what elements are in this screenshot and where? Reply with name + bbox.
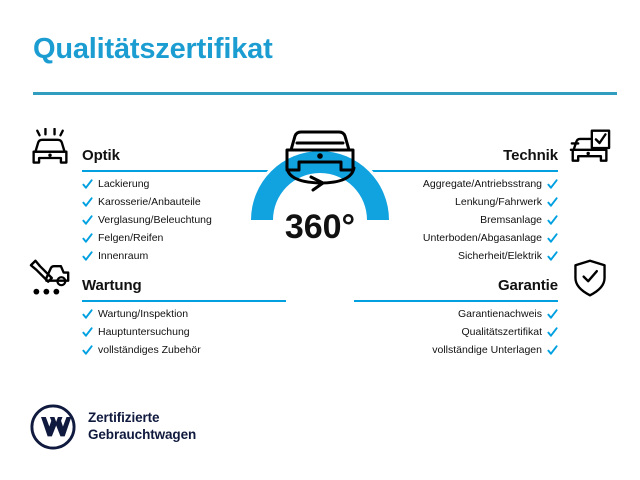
check-icon bbox=[82, 309, 93, 320]
list-item: vollständige Unterlagen bbox=[354, 345, 616, 356]
list-item-label: Qualitätszertifikat bbox=[461, 327, 542, 338]
list-item-label: vollständige Unterlagen bbox=[432, 345, 542, 356]
check-icon bbox=[547, 327, 558, 338]
list-item: vollständiges Zubehör bbox=[24, 345, 286, 356]
list-item-label: vollständiges Zubehör bbox=[98, 345, 201, 356]
check-icon bbox=[82, 327, 93, 338]
vw-certified-logo: Zertifizierte Gebrauchtwagen bbox=[30, 404, 196, 450]
vw-logo-line2: Gebrauchtwagen bbox=[88, 427, 196, 444]
vw-logo-line1: Zertifizierte bbox=[88, 410, 196, 427]
vw-logo-text: Zertifizierte Gebrauchtwagen bbox=[88, 410, 196, 444]
list-item: Garantienachweis bbox=[354, 309, 616, 320]
check-icon bbox=[82, 345, 93, 356]
check-icon bbox=[547, 197, 558, 208]
list-item-label: Lackierung bbox=[98, 179, 149, 190]
check-icon bbox=[547, 345, 558, 356]
list-item: Wartung/Inspektion bbox=[24, 309, 286, 320]
section-optik-title: Optik bbox=[82, 147, 120, 164]
list-item-label: Unterboden/Abgasanlage bbox=[423, 233, 542, 244]
list-item-label: Wartung/Inspektion bbox=[98, 309, 188, 320]
check-icon bbox=[547, 215, 558, 226]
wartung-check-list: Wartung/Inspektion Hauptuntersuchung vol… bbox=[24, 302, 286, 356]
list-item-label: Verglasung/Beleuchtung bbox=[98, 215, 212, 226]
vw-logo-icon bbox=[30, 404, 76, 450]
garantie-check-list: Garantienachweis Qualitätszertifikat vol… bbox=[354, 302, 616, 356]
list-item: Qualitätszertifikat bbox=[354, 327, 616, 338]
list-item-label: Bremsanlage bbox=[480, 215, 542, 226]
list-item-label: Garantienachweis bbox=[458, 309, 542, 320]
list-item-label: Felgen/Reifen bbox=[98, 233, 163, 244]
check-icon bbox=[82, 179, 93, 190]
section-wartung-title: Wartung bbox=[82, 277, 142, 294]
check-icon bbox=[547, 309, 558, 320]
list-item-label: Hauptuntersuchung bbox=[98, 327, 190, 338]
section-garantie-title: Garantie bbox=[498, 277, 558, 294]
list-item-label: Aggregate/Antriebsstrang bbox=[423, 179, 542, 190]
list-item-label: Karosserie/Anbauteile bbox=[98, 197, 201, 208]
certificate-page: Qualitätszertifikat bbox=[0, 0, 640, 480]
check-icon bbox=[547, 179, 558, 190]
title-divider bbox=[33, 92, 617, 95]
section-technik-title: Technik bbox=[503, 147, 558, 164]
page-title: Qualitätszertifikat bbox=[33, 33, 273, 66]
check-icon bbox=[82, 197, 93, 208]
check-icon bbox=[82, 215, 93, 226]
badge-360-gebrauchtwagen-check: Gebrauchtwagen-Check 360° bbox=[225, 112, 415, 307]
check-icon bbox=[82, 233, 93, 244]
shield-check-icon bbox=[568, 258, 612, 298]
list-item: Hauptuntersuchung bbox=[24, 327, 286, 338]
car-checkbox-icon bbox=[568, 128, 612, 168]
svg-text:360°: 360° bbox=[285, 208, 355, 246]
check-icon bbox=[547, 233, 558, 244]
wrench-car-icon bbox=[28, 258, 72, 298]
car-shine-icon bbox=[28, 128, 72, 168]
list-item-label: Lenkung/Fahrwerk bbox=[455, 197, 542, 208]
